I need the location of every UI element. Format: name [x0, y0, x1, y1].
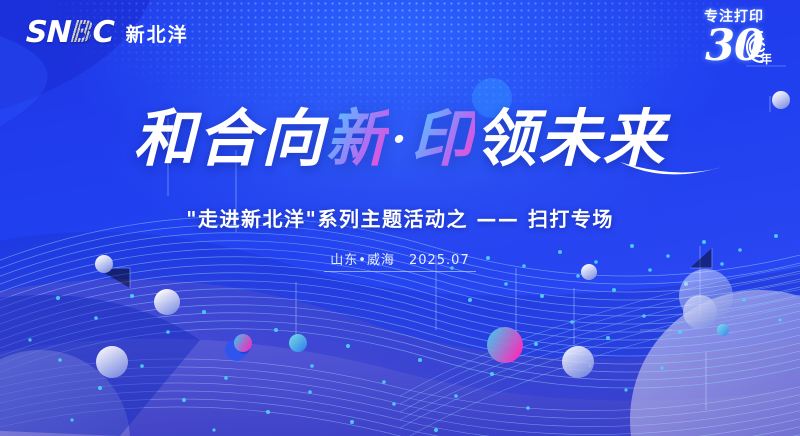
event-location: 山东•威海 [330, 253, 395, 268]
anniversary-badge: 专注打印 30 年 [686, 10, 782, 68]
title-separator-dot: · [389, 114, 410, 165]
event-subtitle: "走进新北洋"系列主题活动之 —— 扫打专场 [0, 203, 800, 232]
event-banner: SNBC 新北洋 专注打印 30 年 和合向新·印领未来 "走进新北洋"系列主题… [0, 0, 800, 436]
event-meta-inner: 山东•威海2025.07 [324, 249, 475, 272]
meta-separator [395, 253, 409, 268]
page-title: 和合向新·印领未来 [0, 96, 800, 183]
snbc-logo: SNBC 新北洋 [26, 18, 189, 48]
snbc-mark-mid: B [70, 15, 93, 50]
snbc-mark-left: SN [25, 15, 71, 50]
brand-name-cn: 新北洋 [126, 20, 189, 47]
title-part-2: 新 [325, 102, 389, 175]
event-date: 2025.07 [409, 253, 470, 268]
anniversary-number-group: 30 年 [686, 24, 782, 68]
title-part-1: 和合向 [133, 102, 325, 175]
event-meta: 山东•威海2025.07 [0, 249, 800, 272]
snbc-mark-right: C [92, 15, 114, 50]
snbc-wordmark: SNBC [25, 18, 114, 48]
anniversary-unit: 年 [760, 50, 772, 67]
calligraphy-flourish-icon [618, 158, 728, 184]
title-part-3: 印 [411, 102, 475, 175]
